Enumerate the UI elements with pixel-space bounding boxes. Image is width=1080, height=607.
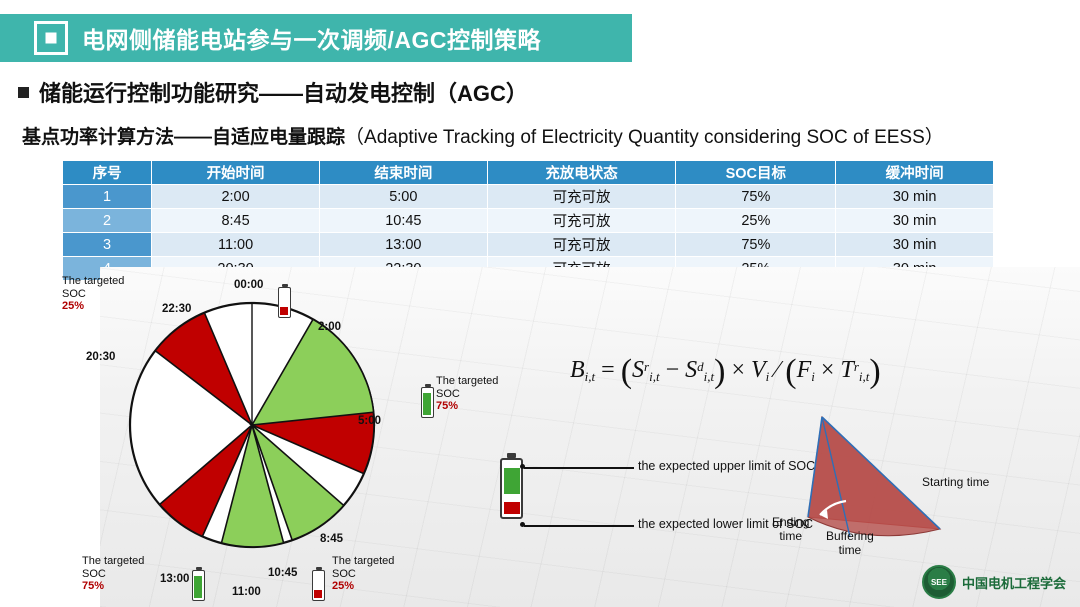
schedule-table: 序号 开始时间 结束时间 充放电状态 SOC目标 缓冲时间 1 2:00 5:0… xyxy=(62,160,994,281)
csee-logo-icon: SEE xyxy=(922,565,956,599)
col-index: 序号 xyxy=(63,161,152,185)
callout-dot-lower xyxy=(520,522,525,527)
col-state: 充放电状态 xyxy=(487,161,676,185)
table-row: 3 11:00 13:00 可充可放 75% 30 min xyxy=(63,233,994,257)
footer-org-name: 中国电机工程学会 xyxy=(962,573,1066,592)
clock-label-2030: 20:30 xyxy=(86,351,115,363)
targeted-soc-1045: The targeted SOC 25% xyxy=(332,555,394,593)
banner-title: 电网侧储能电站参与一次调频/AGC控制策略 xyxy=(82,21,541,55)
clock-label-2230: 22:30 xyxy=(162,303,191,315)
clock-label-0500: 5:00 xyxy=(358,415,381,427)
filled-square-bullet-icon xyxy=(18,87,29,98)
cell-soc: 25% xyxy=(676,209,836,233)
cell-state: 可充可放 xyxy=(487,209,676,233)
callout-line-upper xyxy=(524,467,634,469)
cell-end: 13:00 xyxy=(319,233,487,257)
battery-body xyxy=(312,570,325,601)
battery-body xyxy=(421,387,434,418)
cell-state: 可充可放 xyxy=(487,233,676,257)
cell-start: 11:00 xyxy=(152,233,320,257)
clock-label-0845: 8:45 xyxy=(320,533,343,545)
soc-schedule-clock: 00:00 2:00 5:00 8:45 10:45 11:00 13:00 2… xyxy=(122,295,382,555)
cell-index: 3 xyxy=(63,233,152,257)
col-end: 结束时间 xyxy=(319,161,487,185)
clock-label-1045: 10:45 xyxy=(268,567,297,579)
callout-line-lower xyxy=(524,525,634,527)
cone-label-buffering-time: Bufferingtime xyxy=(826,529,874,557)
formula-block: Bi,t = (Sri,t − Sdi,t) × Vi ⁄ (Fi × Tri,… xyxy=(570,353,881,391)
cone-label-starting-time: Starting time xyxy=(922,475,989,489)
cell-buffer: 30 min xyxy=(836,209,994,233)
table-row: 2 8:45 10:45 可充可放 25% 30 min xyxy=(63,209,994,233)
battery-icon-2230 xyxy=(278,284,291,318)
cell-start: 8:45 xyxy=(152,209,320,233)
clock-pie-svg xyxy=(122,295,382,555)
section-heading: 储能运行控制功能研究——自动发电控制（AGC） xyxy=(18,76,528,108)
legend-battery-icon xyxy=(500,453,522,519)
cell-soc: 75% xyxy=(676,233,836,257)
sub-heading: 基点功率计算方法——自适应电量跟踪（Adaptive Tracking of E… xyxy=(22,122,944,149)
table-header-row: 序号 开始时间 结束时间 充放电状态 SOC目标 缓冲时间 xyxy=(63,161,994,185)
clock-label-1300: 13:00 xyxy=(160,573,189,585)
cell-buffer: 30 min xyxy=(836,185,994,209)
illustration-area: 00:00 2:00 5:00 8:45 10:45 11:00 13:00 2… xyxy=(100,267,1080,607)
battery-body xyxy=(192,570,205,601)
targeted-soc-0500: The targeted SOC 75% xyxy=(436,375,498,413)
clock-label-0200: 2:00 xyxy=(318,321,341,333)
battery-body xyxy=(278,287,291,318)
clock-label-0000: 00:00 xyxy=(234,279,263,291)
legend-upper-label: the expected upper limit of SOC xyxy=(638,459,815,473)
col-start: 开始时间 xyxy=(152,161,320,185)
targeted-soc-2230: The targeted SOC 25% xyxy=(62,275,124,313)
clock-label-1100: 11:00 xyxy=(232,586,261,598)
table-row: 1 2:00 5:00 可充可放 75% 30 min xyxy=(63,185,994,209)
targeted-soc-1300: The targeted SOC 75% xyxy=(82,555,144,593)
sub-heading-en: （Adaptive Tracking of Electricity Quanti… xyxy=(345,127,944,148)
callout-dot-upper xyxy=(520,464,525,469)
battery-icon-1045 xyxy=(312,567,325,601)
col-buffer: 缓冲时间 xyxy=(836,161,994,185)
cell-index: 1 xyxy=(63,185,152,209)
cell-state: 可充可放 xyxy=(487,185,676,209)
cell-index: 2 xyxy=(63,209,152,233)
battery-icon-0500 xyxy=(421,384,434,418)
cell-soc: 75% xyxy=(676,185,836,209)
cone-label-ending-time: Endingtime xyxy=(772,515,809,543)
section-heading-label: 储能运行控制功能研究——自动发电控制（AGC） xyxy=(39,76,528,108)
cell-end: 5:00 xyxy=(319,185,487,209)
cell-start: 2:00 xyxy=(152,185,320,209)
formula-text: Bi,t = (Sri,t − Sdi,t) × Vi ⁄ (Fi × Tri,… xyxy=(570,357,881,383)
cell-buffer: 30 min xyxy=(836,233,994,257)
square-outline-icon xyxy=(34,21,68,55)
battery-icon-1300 xyxy=(192,567,205,601)
header-banner: 电网侧储能电站参与一次调频/AGC控制策略 xyxy=(0,14,632,62)
sub-heading-cn: 基点功率计算方法——自适应电量跟踪 xyxy=(22,127,345,148)
cell-end: 10:45 xyxy=(319,209,487,233)
footer-logo: SEE 中国电机工程学会 xyxy=(922,565,1066,599)
col-soc: SOC目标 xyxy=(676,161,836,185)
